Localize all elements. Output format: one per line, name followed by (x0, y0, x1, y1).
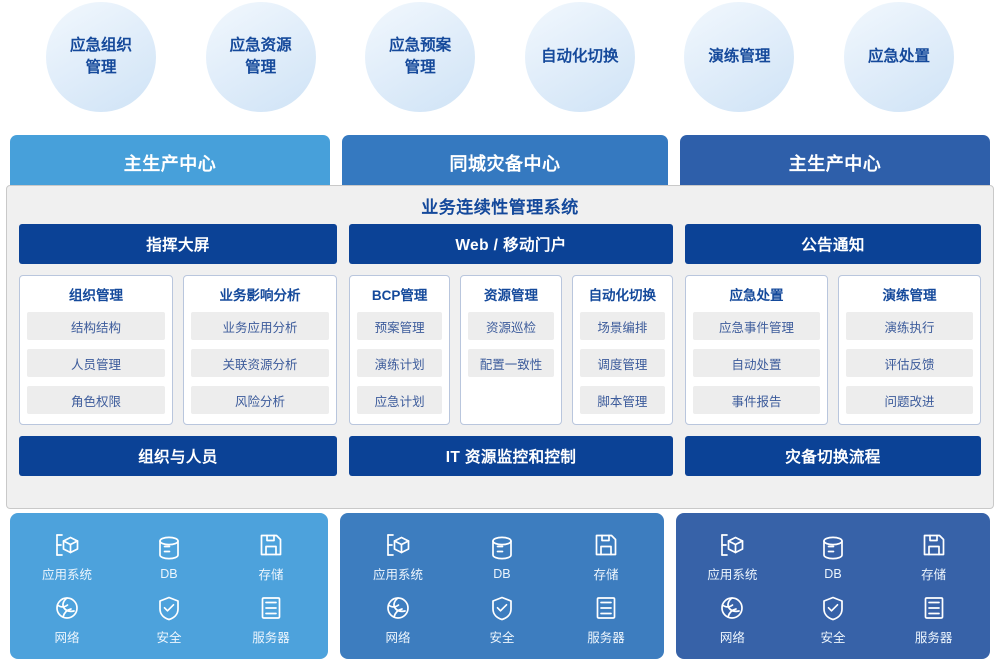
module-card-group: 组织管理结构结构人员管理角色权限业务影响分析业务应用分析关联资源分析风险分析 (19, 275, 337, 425)
capability-circle-label: 自动化切换 (533, 46, 627, 68)
network-globe-icon (383, 593, 413, 623)
infrastructure-item-label: 网络 (385, 627, 410, 646)
infrastructure-item[interactable]: 存储 (554, 530, 658, 583)
capability-circle[interactable]: 应急预案 管理 (365, 2, 475, 112)
module-feature-pill[interactable]: 风险分析 (191, 386, 329, 414)
shield-check-icon (818, 593, 848, 623)
infrastructure-item[interactable]: 安全 (118, 593, 220, 646)
module-card-title: 演练管理 (846, 284, 973, 304)
infrastructure-item-label: 应用系统 (707, 564, 757, 583)
server-rack-icon (919, 593, 949, 623)
bcm-system-panel: 业务连续性管理系统 指挥大屏Web / 移动门户公告通知 组织管理结构结构人员管… (6, 185, 994, 509)
module-cards-row: 组织管理结构结构人员管理角色权限业务影响分析业务应用分析关联资源分析风险分析BC… (7, 264, 993, 436)
infrastructure-item[interactable]: 网络 (682, 593, 783, 646)
module-feature-pill[interactable]: 资源巡检 (468, 312, 553, 340)
infrastructure-item-label: 存储 (921, 564, 946, 583)
infrastructure-item[interactable]: 安全 (783, 593, 884, 646)
module-card[interactable]: BCP管理预案管理演练计划应急计划 (349, 275, 450, 425)
infrastructure-item[interactable]: 应用系统 (16, 530, 118, 583)
module-card[interactable]: 资源管理资源巡检配置一致性 (460, 275, 561, 425)
infrastructure-item[interactable]: 服务器 (883, 593, 984, 646)
infrastructure-item[interactable]: 网络 (16, 593, 118, 646)
architecture-diagram: 应急组织 管理应急资源 管理应急预案 管理自动化切换演练管理应急处置 主生产中心… (0, 0, 1000, 663)
module-card-title: 应急处置 (693, 284, 820, 304)
capability-circle-label: 演练管理 (700, 46, 778, 68)
module-feature-pill[interactable]: 业务应用分析 (191, 312, 329, 340)
infrastructure-item[interactable]: 存储 (883, 530, 984, 583)
infrastructure-panel: 应用系统DB存储网络安全服务器 (340, 513, 664, 659)
module-feature-pill[interactable]: 人员管理 (27, 349, 165, 377)
infrastructure-item-label: 网络 (720, 627, 745, 646)
top-band-row: 指挥大屏Web / 移动门户公告通知 (7, 224, 993, 264)
module-feature-pill[interactable]: 关联资源分析 (191, 349, 329, 377)
top-bands-item[interactable]: Web / 移动门户 (349, 224, 673, 264)
network-globe-icon (52, 593, 82, 623)
capability-circle[interactable]: 应急处置 (844, 2, 954, 112)
data-center-header[interactable]: 主生产中心 (10, 135, 330, 191)
bottom-bands-item[interactable]: 灾备切换流程 (685, 436, 981, 476)
capability-circle-row: 应急组织 管理应急资源 管理应急预案 管理自动化切换演练管理应急处置 (0, 0, 1000, 122)
module-card[interactable]: 自动化切换场景编排调度管理脚本管理 (572, 275, 673, 425)
infrastructure-item-label: 安全 (156, 627, 181, 646)
infrastructure-item-label: 安全 (489, 627, 514, 646)
app-system-icon (717, 530, 747, 560)
infrastructure-item-label: 存储 (593, 564, 618, 583)
capability-circle-label: 应急组织 管理 (62, 35, 140, 79)
module-card-title: 自动化切换 (580, 284, 665, 304)
infrastructure-item[interactable]: 安全 (450, 593, 554, 646)
module-card-title: BCP管理 (357, 284, 442, 304)
infrastructure-item-label: 安全 (820, 627, 845, 646)
infrastructure-panel: 应用系统DB存储网络安全服务器 (676, 513, 990, 659)
storage-icon (256, 530, 286, 560)
module-card[interactable]: 应急处置应急事件管理自动处置事件报告 (685, 275, 828, 425)
infrastructure-item-label: 存储 (258, 564, 283, 583)
module-card-title: 业务影响分析 (191, 284, 329, 304)
infrastructure-item-label: 服务器 (587, 627, 625, 646)
module-card-group: BCP管理预案管理演练计划应急计划资源管理资源巡检配置一致性自动化切换场景编排调… (349, 275, 673, 425)
bottom-bands-item[interactable]: 组织与人员 (19, 436, 337, 476)
module-feature-pill[interactable]: 调度管理 (580, 349, 665, 377)
app-system-icon (383, 530, 413, 560)
shield-check-icon (154, 593, 184, 623)
module-feature-pill[interactable]: 预案管理 (357, 312, 442, 340)
infrastructure-item-label: DB (824, 567, 841, 581)
data-center-header-row: 主生产中心同城灾备中心主生产中心 (0, 135, 1000, 191)
module-feature-pill[interactable]: 脚本管理 (580, 386, 665, 414)
database-icon (154, 533, 184, 563)
shield-check-icon (487, 593, 517, 623)
module-card[interactable]: 演练管理演练执行评估反馈问题改进 (838, 275, 981, 425)
module-feature-pill[interactable]: 评估反馈 (846, 349, 973, 377)
bottom-band-row: 组织与人员IT 资源监控和控制灾备切换流程 (7, 436, 993, 476)
module-card-title: 资源管理 (468, 284, 553, 304)
capability-circle[interactable]: 应急资源 管理 (206, 2, 316, 112)
module-feature-pill[interactable]: 事件报告 (693, 386, 820, 414)
module-feature-pill[interactable]: 演练执行 (846, 312, 973, 340)
infrastructure-row: 应用系统DB存储网络安全服务器应用系统DB存储网络安全服务器应用系统DB存储网络… (10, 513, 990, 659)
network-globe-icon (717, 593, 747, 623)
infrastructure-item[interactable]: DB (118, 530, 220, 583)
infrastructure-item-label: DB (160, 567, 177, 581)
infrastructure-item[interactable]: 存储 (220, 530, 322, 583)
infrastructure-item-label: 服务器 (252, 627, 290, 646)
capability-circle[interactable]: 自动化切换 (525, 2, 635, 112)
infrastructure-item[interactable]: DB (450, 530, 554, 583)
database-icon (487, 533, 517, 563)
module-feature-pill[interactable]: 配置一致性 (468, 349, 553, 377)
infrastructure-panel: 应用系统DB存储网络安全服务器 (10, 513, 328, 659)
infrastructure-item[interactable]: 服务器 (220, 593, 322, 646)
data-center-header[interactable]: 同城灾备中心 (342, 135, 668, 191)
data-center-header[interactable]: 主生产中心 (680, 135, 990, 191)
infrastructure-item[interactable]: 应用系统 (682, 530, 783, 583)
capability-circle[interactable]: 演练管理 (684, 2, 794, 112)
infrastructure-item[interactable]: 服务器 (554, 593, 658, 646)
module-card[interactable]: 业务影响分析业务应用分析关联资源分析风险分析 (183, 275, 337, 425)
module-card-group: 应急处置应急事件管理自动处置事件报告演练管理演练执行评估反馈问题改进 (685, 275, 981, 425)
capability-circle-label: 应急预案 管理 (381, 35, 459, 79)
infrastructure-item[interactable]: 应用系统 (346, 530, 450, 583)
bottom-bands-item[interactable]: IT 资源监控和控制 (349, 436, 673, 476)
module-feature-pill[interactable]: 场景编排 (580, 312, 665, 340)
infrastructure-item-label: 服务器 (915, 627, 953, 646)
module-card-title: 组织管理 (27, 284, 165, 304)
app-system-icon (52, 530, 82, 560)
module-card[interactable]: 组织管理结构结构人员管理角色权限 (19, 275, 173, 425)
infrastructure-item-label: 网络 (54, 627, 79, 646)
server-rack-icon (256, 593, 286, 623)
module-feature-pill[interactable]: 应急计划 (357, 386, 442, 414)
module-feature-pill[interactable]: 演练计划 (357, 349, 442, 377)
top-bands-item[interactable]: 公告通知 (685, 224, 981, 264)
module-feature-pill[interactable]: 角色权限 (27, 386, 165, 414)
system-title: 业务连续性管理系统 (7, 186, 993, 224)
storage-icon (591, 530, 621, 560)
infrastructure-item-label: 应用系统 (42, 564, 92, 583)
capability-circle-label: 应急处置 (860, 46, 938, 68)
storage-icon (919, 530, 949, 560)
module-feature-pill[interactable]: 应急事件管理 (693, 312, 820, 340)
infrastructure-item[interactable]: 网络 (346, 593, 450, 646)
module-feature-pill[interactable]: 自动处置 (693, 349, 820, 377)
module-feature-pill[interactable]: 问题改进 (846, 386, 973, 414)
infrastructure-item-label: 应用系统 (373, 564, 423, 583)
server-rack-icon (591, 593, 621, 623)
module-feature-pill[interactable]: 结构结构 (27, 312, 165, 340)
infrastructure-item[interactable]: DB (783, 530, 884, 583)
database-icon (818, 533, 848, 563)
top-bands-item[interactable]: 指挥大屏 (19, 224, 337, 264)
capability-circle-label: 应急资源 管理 (222, 35, 300, 79)
infrastructure-item-label: DB (493, 567, 510, 581)
capability-circle[interactable]: 应急组织 管理 (46, 2, 156, 112)
